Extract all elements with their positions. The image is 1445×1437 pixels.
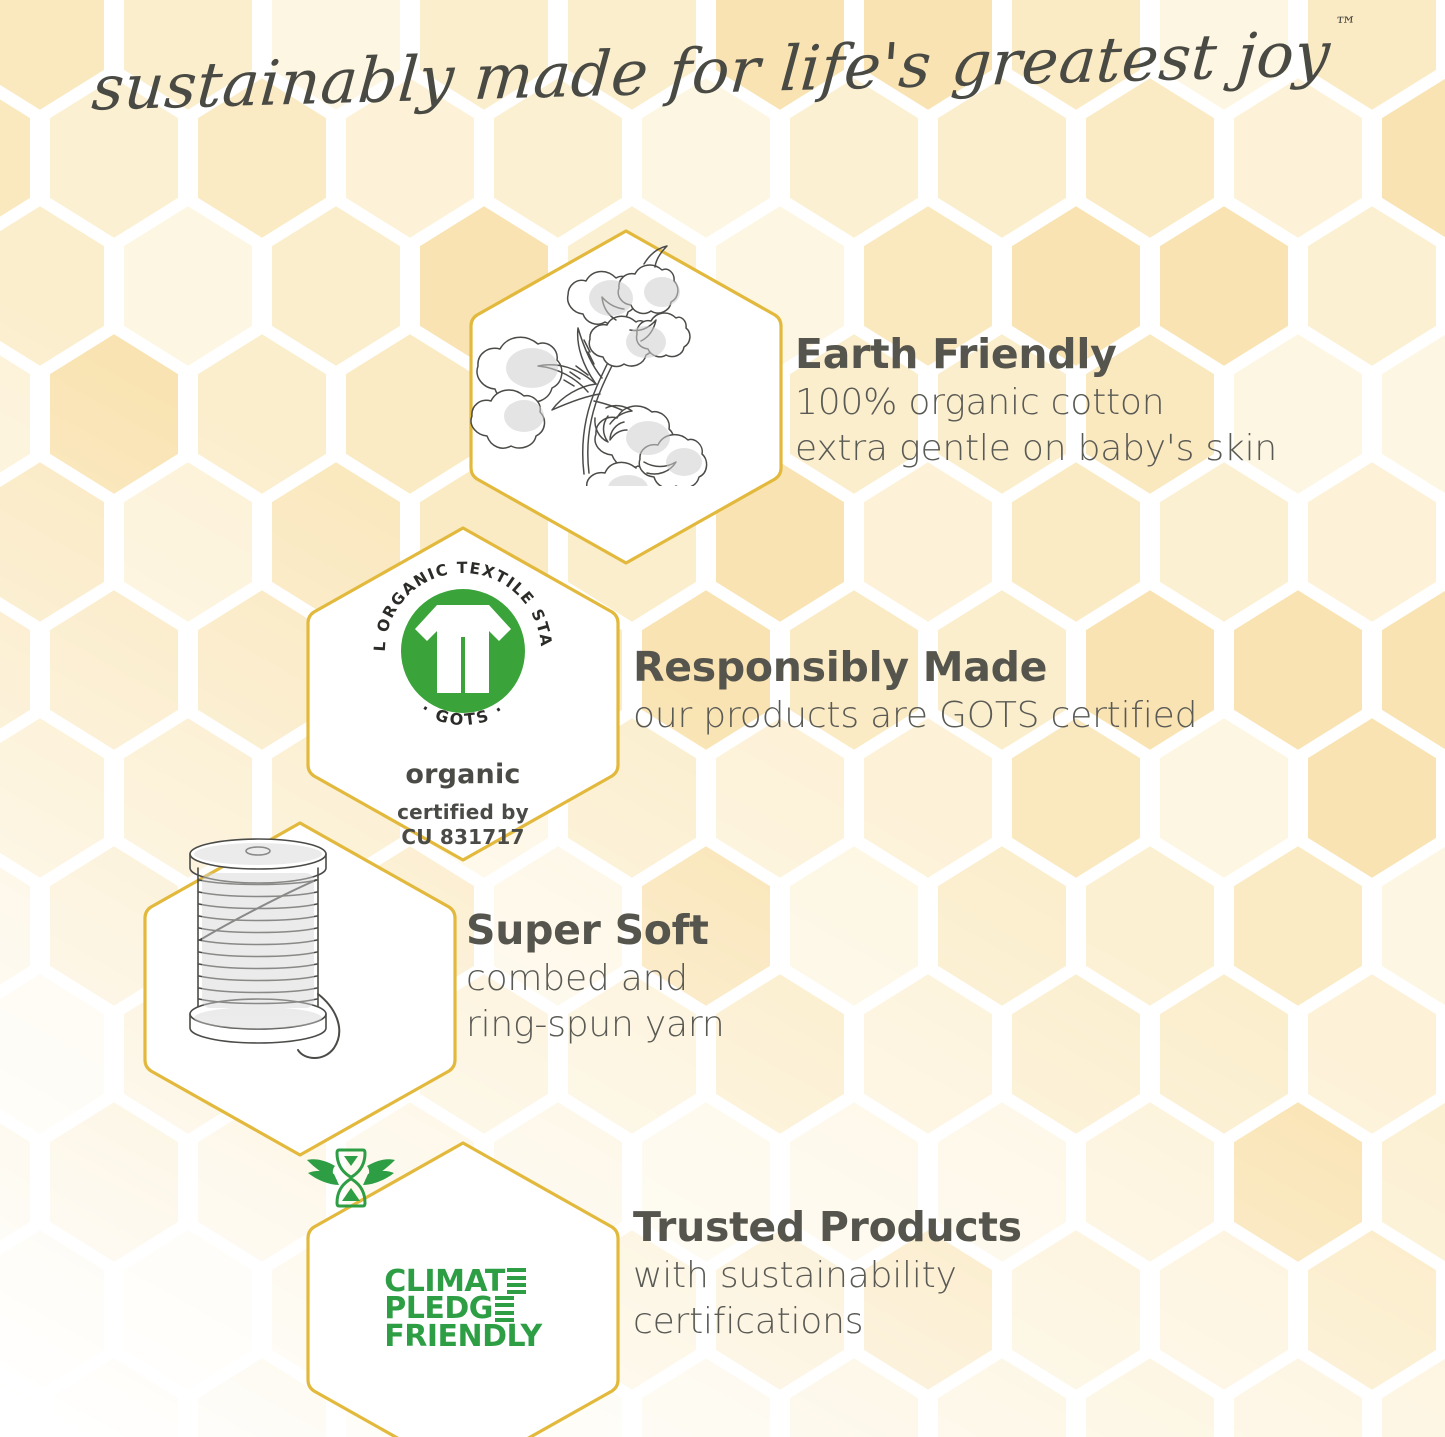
gots-organic-label: organic — [343, 759, 583, 790]
feature-text-responsibly-made: Responsibly Made our products are GOTS c… — [633, 645, 1197, 739]
thread-spool-illustration — [140, 818, 380, 1068]
feature-text-super-soft: Super Soft combed and ring-spun yarn — [466, 908, 724, 1048]
winged-hourglass-icon — [303, 1138, 399, 1216]
feature-text-trusted-products: Trusted Products with sustainability cer… — [633, 1205, 1022, 1345]
feature-hexagon-trusted-products: CLIMAT PLEDG FRIENDLY — [303, 1138, 623, 1437]
feature-line-responsibly-made-1: our products are GOTS certified — [633, 693, 1197, 739]
feature-title-super-soft: Super Soft — [466, 908, 724, 954]
infographic-canvas: sustainably made for life's greatest joy… — [0, 0, 1445, 1437]
spool-illustration-wrap — [140, 818, 460, 1160]
feature-hexagon-super-soft — [140, 818, 460, 1160]
feature-line-super-soft-1: combed and — [466, 956, 724, 1002]
gots-organic-certification-badge: GLOBAL ORGANIC TEXTILE STANDARD · GOTS ·… — [343, 551, 583, 850]
cpf-line-3-text: FRIENDLY — [384, 1323, 541, 1351]
feature-title-earth-friendly: Earth Friendly — [795, 332, 1277, 378]
feature-line-super-soft-2: ring-spun yarn — [466, 1002, 724, 1048]
cpf-line-3: FRIENDLY — [384, 1323, 541, 1351]
feature-hexagon-earth-friendly — [466, 226, 786, 568]
feature-line-earth-friendly-1: 100% organic cotton — [795, 380, 1277, 426]
feature-line-trusted-products-1: with sustainability — [633, 1253, 1022, 1299]
climate-pledge-wordmark: CLIMAT PLEDG FRIENDLY — [384, 1268, 541, 1351]
feature-title-responsibly-made: Responsibly Made — [633, 645, 1197, 691]
gots-mark: GLOBAL ORGANIC TEXTILE STANDARD · GOTS · — [363, 551, 563, 751]
feature-text-earth-friendly: Earth Friendly 100% organic cotton extra… — [795, 332, 1277, 472]
feature-title-trusted-products: Trusted Products — [633, 1205, 1022, 1251]
feature-line-earth-friendly-2: extra gentle on baby's skin — [795, 426, 1277, 472]
cpf-bars-1 — [507, 1268, 526, 1294]
climate-pledge-wrap: CLIMAT PLEDG FRIENDLY — [303, 1138, 623, 1437]
cotton-branch-illustration — [466, 226, 716, 486]
feature-hexagon-responsibly-made: GLOBAL ORGANIC TEXTILE STANDARD · GOTS ·… — [303, 523, 623, 865]
cotton-illustration-wrap — [466, 226, 786, 568]
feature-line-trusted-products-2: certifications — [633, 1299, 1022, 1345]
climate-pledge-friendly-logo: CLIMAT PLEDG FRIENDLY — [384, 1268, 541, 1351]
